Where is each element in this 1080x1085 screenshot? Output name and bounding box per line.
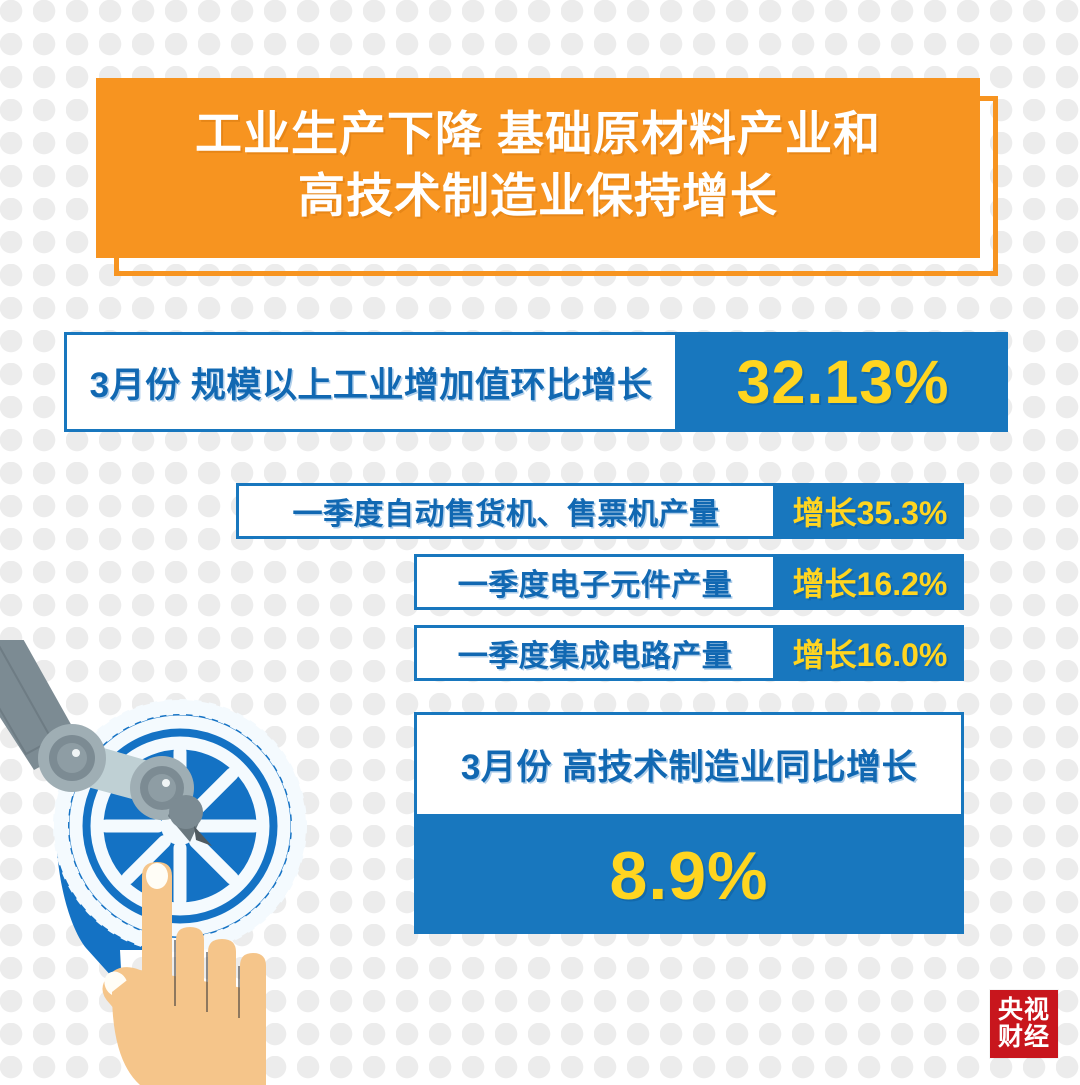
robot-arm-gear-illustration [0, 640, 350, 1085]
header-fill: 工业生产下降 基础原材料产业和 高技术制造业保持增长 [96, 78, 980, 258]
stat-row-electronic-components: 一季度电子元件产量 增长16.2% [414, 554, 964, 610]
stat-value: 增长16.2% [776, 554, 964, 610]
stat-label: 一季度自动售货机、售票机产量 [236, 483, 776, 539]
header-banner: 工业生产下降 基础原材料产业和 高技术制造业保持增长 [96, 78, 980, 258]
stat-row-vending-ticket-machines: 一季度自动售货机、售票机产量 增长35.3% [236, 483, 964, 539]
stat-label: 一季度集成电路产量 [414, 625, 776, 681]
stat-block-high-tech-manufacturing: 3月份 高技术制造业同比增长 8.9% [414, 712, 964, 934]
cctv-finance-logo: 央视 财经 [990, 990, 1058, 1058]
logo-line-1: 央视 [998, 997, 1050, 1024]
header-title-line-1: 工业生产下降 基础原材料产业和 [195, 103, 881, 165]
logo-line-2: 财经 [998, 1024, 1050, 1051]
stat-label: 3月份 规模以上工业增加值环比增长 [64, 332, 678, 432]
stat-value: 8.9% [414, 817, 964, 934]
stat-value: 增长35.3% [776, 483, 964, 539]
stat-row-industrial-value-added: 3月份 规模以上工业增加值环比增长 32.13% [64, 332, 1008, 432]
stat-label: 一季度电子元件产量 [414, 554, 776, 610]
stat-label: 3月份 高技术制造业同比增长 [414, 712, 964, 817]
header-title-line-2: 高技术制造业保持增长 [298, 165, 778, 227]
stat-value: 32.13% [678, 332, 1008, 432]
infographic-stage: 工业生产下降 基础原材料产业和 高技术制造业保持增长 3月份 规模以上工业增加值… [0, 0, 1080, 1080]
stat-row-integrated-circuits: 一季度集成电路产量 增长16.0% [414, 625, 964, 681]
stat-value: 增长16.0% [776, 625, 964, 681]
